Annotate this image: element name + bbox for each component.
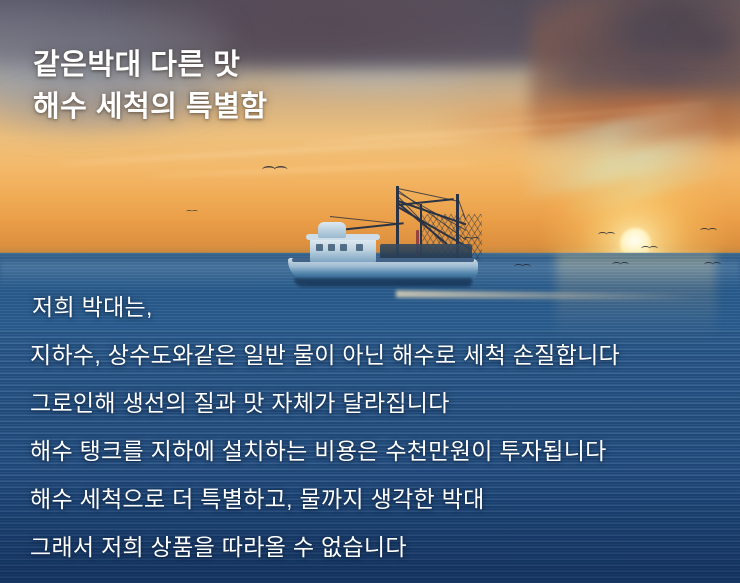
- body-line-1: 저희 박대는,: [0, 283, 740, 331]
- boat-window-3: [340, 244, 347, 251]
- promo-banner: 같은박대 다른 맛 해수 세척의 특별함 저희 박대는, 지하수, 상수도와같은…: [0, 0, 740, 583]
- boat-window-1: [316, 244, 323, 251]
- body-line-5: 해수 세척으로 더 특별하고, 물까지 생각한 박대: [0, 475, 740, 523]
- boat-window-4: [356, 244, 363, 251]
- heading-line-1: 같은박대 다른 맛: [33, 44, 268, 86]
- banner-body-copy: 저희 박대는, 지하수, 상수도와같은 일반 물이 아닌 해수로 세척 손질합니…: [0, 283, 740, 571]
- body-line-6: 그래서 저희 상품을 따라올 수 없습니다: [0, 523, 740, 571]
- body-line-2: 지하수, 상수도와같은 일반 물이 아닌 해수로 세척 손질합니다: [0, 331, 740, 379]
- heading-line-2: 해수 세척의 특별함: [33, 86, 268, 128]
- body-line-3: 그로인해 생선의 질과 맛 자체가 달라집니다: [0, 379, 740, 427]
- body-line-4: 해수 탱크를 지하에 설치하는 비용은 수천만원이 투자됩니다: [0, 427, 740, 475]
- boat-window-2: [328, 244, 335, 251]
- cloud-icon-right-bump-2: [672, 20, 740, 60]
- banner-heading: 같은박대 다른 맛 해수 세척의 특별함: [33, 44, 268, 128]
- boat-wheelhouse: [318, 222, 346, 238]
